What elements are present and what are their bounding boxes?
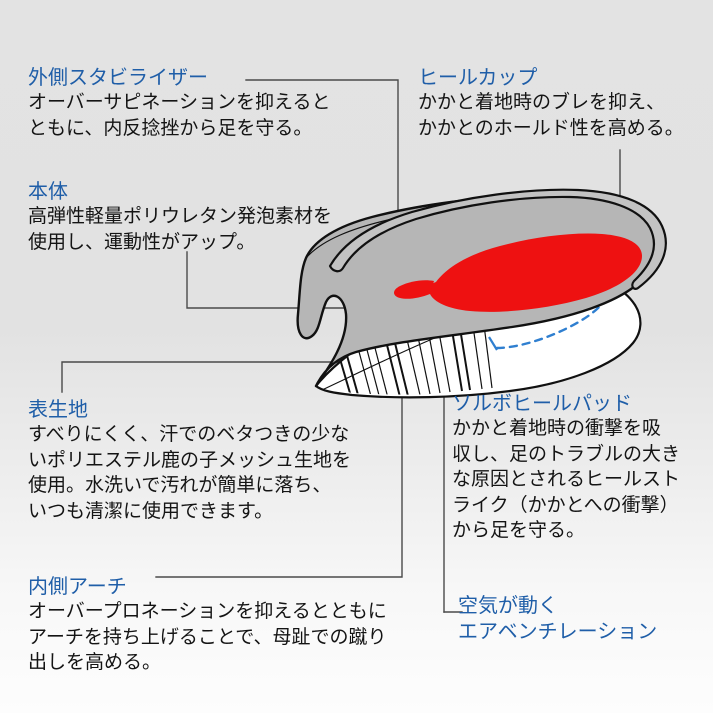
callout-body: 本体 高弾性軽量ポリウレタン発泡素材を 使用し、運動性がアップ。 bbox=[28, 178, 332, 255]
callout-stabilizer-line-2: ともに、内反捻挫から足を守る。 bbox=[28, 116, 330, 142]
callout-heelpad-line-5: から足を守る。 bbox=[452, 518, 680, 544]
callout-arch: 内側アーチ オーバープロネーションを抑えるとともに アーチを持ち上げることで、母… bbox=[28, 573, 387, 676]
callout-arch-line-2: アーチを持ち上げることで、母趾での蹴り bbox=[28, 625, 387, 651]
callout-surface: 表生地 すべりにくく、汗でのベタつきの少な いポリエステル鹿の子メッシュ生地を … bbox=[28, 396, 351, 524]
callout-stabilizer-title: 外側スタビライザー bbox=[28, 64, 330, 90]
leader-surface bbox=[62, 362, 345, 392]
callout-stabilizer: 外側スタビライザー オーバーサピネーションを抑えると ともに、内反捻挫から足を守… bbox=[28, 64, 330, 141]
diagram-canvas: 外側スタビライザー オーバーサピネーションを抑えると ともに、内反捻挫から足を守… bbox=[0, 0, 713, 713]
callout-body-line-2: 使用し、運動性がアップ。 bbox=[28, 230, 332, 256]
callout-ventilation-title: 空気が動く エアベンチレーション bbox=[458, 592, 657, 644]
callout-arch-line-3: 出しを高める。 bbox=[28, 650, 387, 676]
callout-surface-title: 表生地 bbox=[28, 396, 351, 422]
callout-heelpad-line-4: ライク（かかとへの衝撃） bbox=[452, 493, 680, 519]
callout-surface-line-2: いポリエステル鹿の子メッシュ生地を bbox=[28, 448, 351, 474]
callout-arch-line-1: オーバープロネーションを抑えるとともに bbox=[28, 599, 387, 625]
callout-arch-title: 内側アーチ bbox=[28, 573, 387, 599]
callout-heelpad-line-1: かかと着地時の衝撃を吸 bbox=[452, 416, 680, 442]
callout-heelcup-title: ヒールカップ bbox=[418, 64, 684, 90]
callout-heelpad-title: ソルボヒールパッド bbox=[452, 390, 680, 416]
callout-surface-line-1: すべりにくく、汗でのベタつきの少な bbox=[28, 422, 351, 448]
callout-heelcup-line-1: かかと着地時のブレを抑え、 bbox=[418, 90, 684, 116]
callout-ventilation: 空気が動く エアベンチレーション bbox=[458, 592, 657, 644]
callout-heelpad-line-2: 収し、足のトラブルの大き bbox=[452, 442, 680, 468]
callout-surface-line-3: 使用。水洗いで汚れが簡単に落ち、 bbox=[28, 473, 351, 499]
callout-body-line-1: 高弾性軽量ポリウレタン発泡素材を bbox=[28, 204, 332, 230]
callout-stabilizer-line-1: オーバーサピネーションを抑えると bbox=[28, 90, 330, 116]
callout-heelcup-line-2: かかとのホールド性を高める。 bbox=[418, 116, 684, 142]
callout-heelpad-line-3: な原因とされるヒールスト bbox=[452, 467, 680, 493]
callout-heelpad: ソルボヒールパッド かかと着地時の衝撃を吸 収し、足のトラブルの大き な原因とさ… bbox=[452, 390, 680, 544]
callout-heelcup: ヒールカップ かかと着地時のブレを抑え、 かかとのホールド性を高める。 bbox=[418, 64, 684, 141]
callout-surface-line-4: いつも清潔に使用できます。 bbox=[28, 499, 351, 525]
callout-body-title: 本体 bbox=[28, 178, 332, 204]
